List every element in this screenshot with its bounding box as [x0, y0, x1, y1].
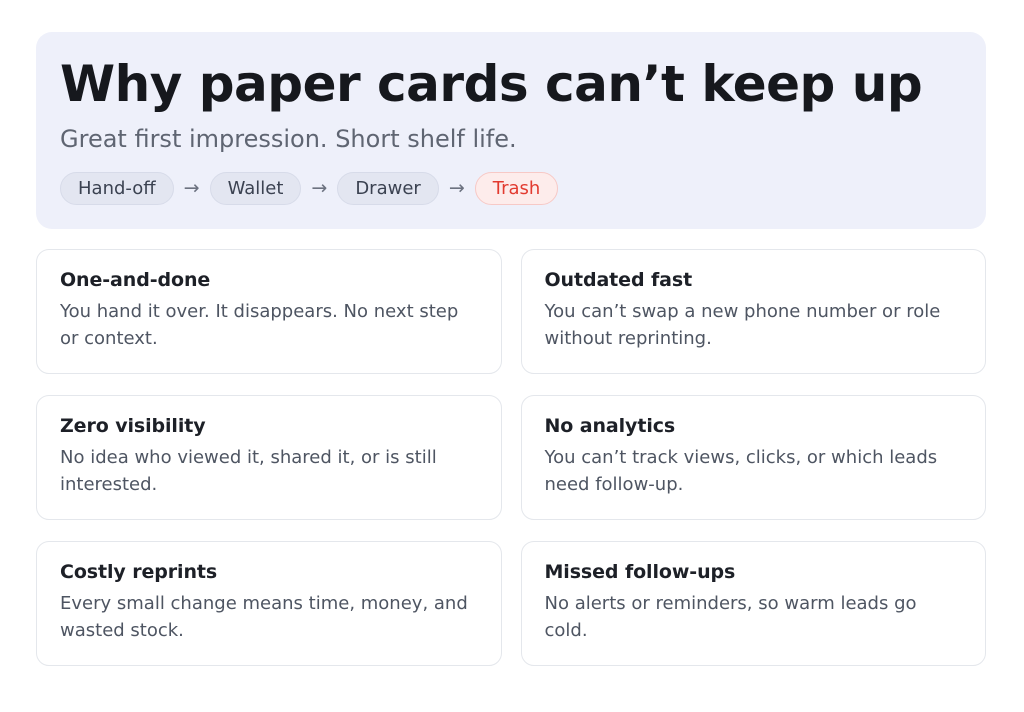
flow-chip-trash[interactable]: Trash: [475, 172, 559, 205]
pain-point-card[interactable]: Costly reprints Every small change means…: [36, 541, 502, 666]
pain-point-card[interactable]: Outdated fast You can’t swap a new phone…: [521, 249, 987, 374]
pain-point-grid: One-and-done You hand it over. It disapp…: [36, 249, 986, 666]
flow-arrow-icon: →: [183, 179, 201, 198]
card-title: One-and-done: [60, 269, 479, 293]
card-body: You can’t track views, clicks, or which …: [545, 444, 964, 498]
pain-point-card[interactable]: No analytics You can’t track views, clic…: [521, 395, 987, 520]
flow-chip-drawer[interactable]: Drawer: [337, 172, 439, 205]
flow-arrow-icon: →: [310, 179, 328, 198]
card-title: Costly reprints: [60, 561, 479, 585]
page-title: Why paper cards can’t keep up: [60, 57, 960, 111]
card-body: No idea who viewed it, shared it, or is …: [60, 444, 479, 498]
card-body: You hand it over. It disappears. No next…: [60, 298, 479, 352]
flow-chip-wallet[interactable]: Wallet: [210, 172, 302, 205]
card-title: Outdated fast: [545, 269, 964, 293]
pain-point-card[interactable]: Missed follow-ups No alerts or reminders…: [521, 541, 987, 666]
lifecycle-flow: Hand-off → Wallet → Drawer → Trash: [60, 172, 960, 205]
card-body: You can’t swap a new phone number or rol…: [545, 298, 964, 352]
card-body: Every small change means time, money, an…: [60, 590, 479, 644]
page-root: Why paper cards can’t keep up Great firs…: [0, 0, 1024, 712]
card-body: No alerts or reminders, so warm leads go…: [545, 590, 964, 644]
card-title: Missed follow-ups: [545, 561, 964, 585]
pain-point-card[interactable]: One-and-done You hand it over. It disapp…: [36, 249, 502, 374]
flow-arrow-icon: →: [448, 179, 466, 198]
card-title: No analytics: [545, 415, 964, 439]
page-subtitle: Great first impression. Short shelf life…: [60, 124, 960, 155]
pain-point-card[interactable]: Zero visibility No idea who viewed it, s…: [36, 395, 502, 520]
flow-chip-hand-off[interactable]: Hand-off: [60, 172, 174, 205]
hero-panel: Why paper cards can’t keep up Great firs…: [36, 32, 986, 229]
card-title: Zero visibility: [60, 415, 479, 439]
